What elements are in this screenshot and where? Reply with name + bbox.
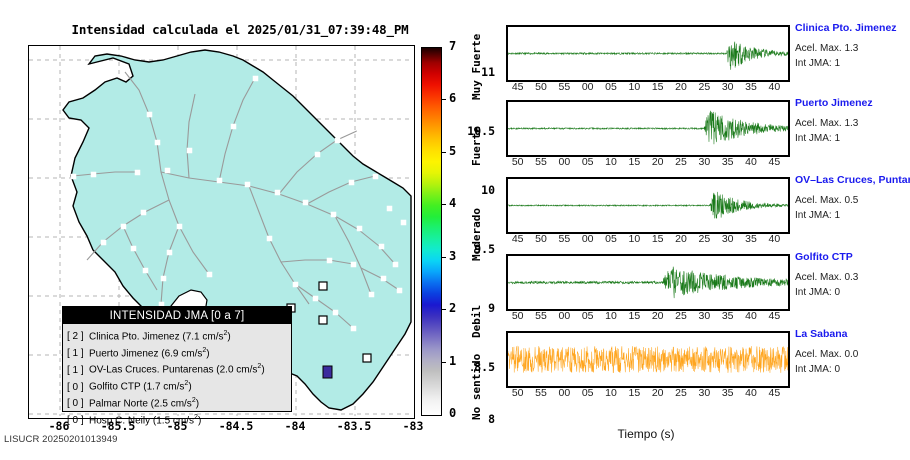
seismogram-panel[interactable]: [506, 331, 790, 388]
time-tick-label: 10: [624, 233, 644, 245]
time-tick-label: 20: [671, 81, 691, 93]
time-tick-label: 05: [578, 387, 598, 399]
trace-station-name: OV–Las Cruces, Puntar: [795, 174, 910, 186]
page-title: Intensidad calculada el 2025/01/31_07:39…: [60, 22, 420, 37]
colorbar-category-label: Moderado: [470, 208, 483, 261]
time-tick-label: 05: [601, 233, 621, 245]
time-tick-label: 55: [554, 233, 574, 245]
trace-int-jma: Int JMA: 0: [795, 364, 840, 375]
colorbar-tick: [441, 99, 446, 100]
time-axis-ticks: 505500051015202530354045: [506, 156, 786, 170]
map-xtick: -83: [390, 419, 436, 433]
colorbar-tick: [441, 204, 446, 205]
time-tick-label: 15: [648, 81, 668, 93]
time-tick-label: 25: [671, 156, 691, 168]
time-tick-label: 40: [741, 156, 761, 168]
trace-int-jma: Int JMA: 1: [795, 210, 840, 221]
time-tick-label: 25: [671, 387, 691, 399]
time-tick-label: 35: [741, 233, 761, 245]
trace-station-name: Clinica Pto. Jimenez: [795, 22, 897, 34]
time-tick-label: 10: [601, 387, 621, 399]
waveform-graphic: [508, 256, 788, 309]
time-tick-label: 50: [531, 81, 551, 93]
trace-int-jma: Int JMA: 1: [795, 58, 840, 69]
colorbar-category-label: No sentido: [470, 354, 483, 420]
time-tick-label: 05: [578, 310, 598, 322]
time-tick-label: 25: [694, 233, 714, 245]
time-tick-label: 05: [578, 156, 598, 168]
station-marker-highlight: [323, 366, 332, 378]
legend-title: INTENSIDAD JMA [0 a 7]: [63, 307, 291, 324]
colorbar-value: 4: [449, 196, 456, 210]
waveform-graphic: [508, 333, 788, 386]
time-tick-label: 00: [554, 310, 574, 322]
time-tick-label: 40: [741, 310, 761, 322]
time-tick-label: 25: [694, 81, 714, 93]
trace-int-jma: Int JMA: 1: [795, 133, 840, 144]
trace-station-name: La Sabana: [795, 328, 848, 340]
time-tick-label: 00: [554, 156, 574, 168]
colorbar-tick: [441, 309, 446, 310]
time-tick-label: 55: [531, 156, 551, 168]
time-axis-ticks: 505500051015202530354045: [506, 387, 786, 401]
time-tick-label: 40: [764, 81, 784, 93]
map-xtick: -83.5: [331, 419, 377, 433]
seismogram-panel[interactable]: [506, 25, 790, 82]
legend-row: [ 1 ]Puerto Jimenez (6.9 cm/s2): [67, 344, 291, 361]
trace-station-name: Puerto Jimenez: [795, 97, 873, 109]
time-tick-label: 05: [601, 81, 621, 93]
colorbar-value: 7: [449, 39, 456, 53]
time-tick-label: 20: [648, 310, 668, 322]
time-tick-label: 20: [671, 233, 691, 245]
time-tick-label: 15: [624, 310, 644, 322]
trace-accel-max: Acel. Max. 0.5: [795, 195, 858, 206]
time-tick-label: 50: [508, 310, 528, 322]
time-tick-label: 45: [764, 156, 784, 168]
time-tick-label: 30: [694, 156, 714, 168]
colorbar-value: 2: [449, 301, 456, 315]
colorbar-category-label: Muy Fuerte: [470, 34, 483, 100]
waveform-graphic: [508, 179, 788, 232]
time-tick-label: 55: [531, 387, 551, 399]
time-tick-label: 45: [508, 81, 528, 93]
seismogram-panel[interactable]: [506, 177, 790, 234]
time-axis-ticks: 455055000510152025303540: [506, 233, 786, 247]
time-tick-label: 50: [508, 387, 528, 399]
colorbar-category-label: Fuerte: [470, 126, 483, 166]
station-marker: [319, 316, 327, 324]
time-tick-label: 40: [741, 387, 761, 399]
time-tick-label: 10: [624, 81, 644, 93]
time-tick-label: 30: [718, 233, 738, 245]
time-tick-label: 50: [531, 233, 551, 245]
time-tick-label: 45: [764, 310, 784, 322]
legend-station-list: [ 2 ]Clinica Pto. Jimenez (7.1 cm/s2)[ 1…: [63, 324, 291, 427]
map-ytick: 10: [455, 183, 495, 197]
trace-accel-max: Acel. Max. 0.3: [795, 272, 858, 283]
legend-row: [ 2 ]Clinica Pto. Jimenez (7.1 cm/s2): [67, 327, 291, 344]
time-tick-label: 35: [718, 310, 738, 322]
time-tick-label: 15: [624, 387, 644, 399]
legend-row: [ 0 ]Palmar Norte (2.5 cm/s2): [67, 394, 291, 411]
colorbar-tick: [441, 152, 446, 153]
colorbar-value: 3: [449, 249, 456, 263]
seismogram-panel[interactable]: [506, 254, 790, 311]
colorbar-tick: [441, 257, 446, 258]
colorbar-value: 0: [449, 406, 456, 420]
time-tick-label: 55: [554, 81, 574, 93]
legend-row: [ 0 ]Golfito CTP (1.7 cm/s2): [67, 377, 291, 394]
legend-row: [ 1 ]OV-Las Cruces. Puntarenas (2.0 cm/s…: [67, 360, 291, 377]
colorbar-category-label: Debil: [470, 305, 483, 338]
time-tick-label: 10: [601, 156, 621, 168]
time-tick-label: 30: [694, 387, 714, 399]
trace-accel-max: Acel. Max. 1.3: [795, 118, 858, 129]
trace-accel-max: Acel. Max. 0.0: [795, 349, 858, 360]
time-tick-label: 00: [554, 387, 574, 399]
time-tick-label: 25: [671, 310, 691, 322]
time-tick-label: 30: [718, 81, 738, 93]
time-axis-ticks: 455055000510152025303540: [506, 81, 786, 95]
colorbar-value: 5: [449, 144, 456, 158]
waveform-graphic: [508, 27, 788, 80]
station-marker: [363, 354, 371, 362]
time-tick-label: 00: [578, 81, 598, 93]
time-tick-label: 40: [764, 233, 784, 245]
intensity-legend: INTENSIDAD JMA [0 a 7] [ 2 ]Clinica Pto.…: [62, 306, 292, 412]
watermark-label: LISUCR 20250201013949: [4, 434, 118, 445]
time-tick-label: 35: [718, 387, 738, 399]
time-tick-label: 50: [508, 156, 528, 168]
time-axis-title: Tiempo (s): [566, 427, 726, 441]
time-tick-label: 45: [764, 387, 784, 399]
time-tick-label: 55: [531, 310, 551, 322]
time-axis-ticks: 505500051015202530354045: [506, 310, 786, 324]
time-tick-label: 30: [694, 310, 714, 322]
time-tick-label: 15: [624, 156, 644, 168]
trace-station-name: Golfito CTP: [795, 251, 853, 263]
time-tick-label: 35: [741, 81, 761, 93]
intensity-colorbar: [421, 47, 442, 416]
time-tick-label: 15: [648, 233, 668, 245]
time-tick-label: 45: [508, 233, 528, 245]
colorbar-value: 6: [449, 91, 456, 105]
colorbar-tick: [441, 362, 446, 363]
colorbar-value: 1: [449, 354, 456, 368]
trace-accel-max: Acel. Max. 1.3: [795, 43, 858, 54]
time-tick-label: 20: [648, 387, 668, 399]
time-tick-label: 35: [718, 156, 738, 168]
trace-int-jma: Int JMA: 0: [795, 287, 840, 298]
time-tick-label: 20: [648, 156, 668, 168]
station-marker: [319, 282, 327, 290]
time-tick-label: 10: [601, 310, 621, 322]
seismogram-panel[interactable]: [506, 100, 790, 157]
waveform-graphic: [508, 102, 788, 155]
time-tick-label: 00: [578, 233, 598, 245]
legend-row: [ 0 ]Hosp C. Neily (1.5 cm/s2): [67, 411, 291, 428]
